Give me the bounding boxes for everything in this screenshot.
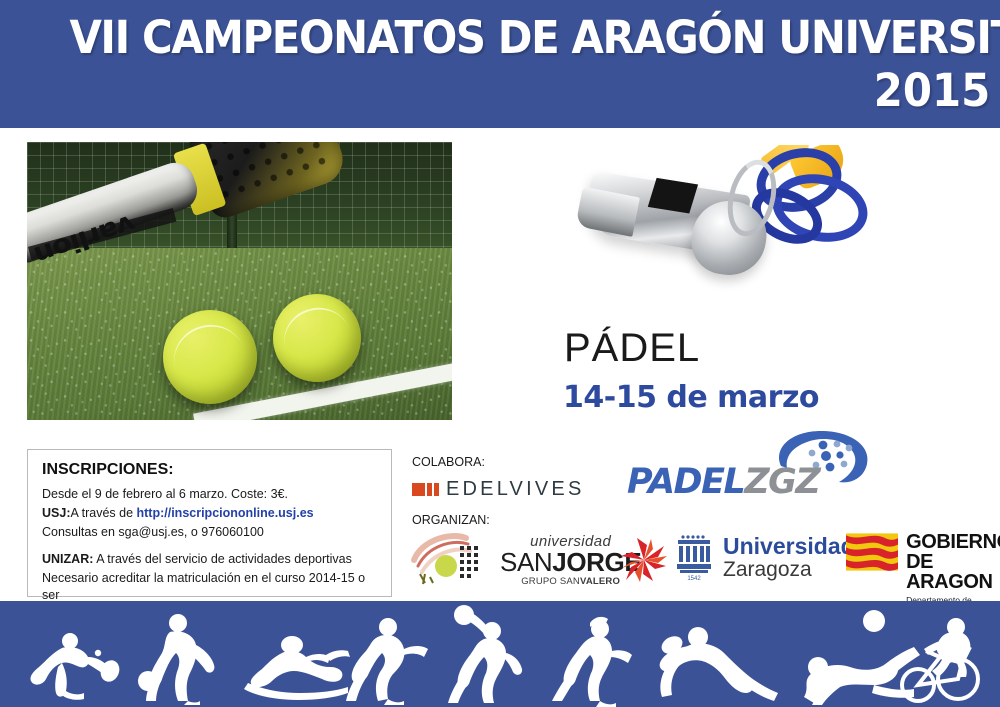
sanjorge-san: SAN xyxy=(500,547,552,577)
inscriptions-period: Desde el 9 de febrero al 6 marzo. Coste:… xyxy=(42,486,377,503)
inscriptions-note-1: Necesario acreditar la matriculación en … xyxy=(42,570,377,604)
whistle-dark-band xyxy=(648,178,698,214)
tennis-ball xyxy=(163,310,257,404)
whistle-photo xyxy=(565,145,965,310)
female-runner-silhouette xyxy=(552,617,632,707)
universidad-zaragoza-logo: 1542 Universidad Zaragoza xyxy=(674,532,855,582)
inscriptions-usj-line: USJ:A través de http://inscripciononline… xyxy=(42,505,377,522)
edelvives-logo: EDELVIVES xyxy=(412,478,584,501)
unizar-text-block: Universidad Zaragoza xyxy=(723,534,855,581)
inscriptions-title: INSCRIPCIONES: xyxy=(42,461,377,479)
unizar-text: A través del servicio de actividades dep… xyxy=(96,552,352,566)
gobierno-line1: GOBIERNO xyxy=(906,532,1000,552)
usj-registration-link[interactable]: http://inscripciononline.usj.es xyxy=(137,506,314,520)
padelzgz-wordmark: PADELZGZ xyxy=(627,462,819,502)
colabora-label: COLABORA: xyxy=(412,455,485,469)
header-year: 2015 xyxy=(874,66,990,116)
unizar-zaragoza: Zaragoza xyxy=(723,558,855,581)
handball-player-silhouette xyxy=(448,605,522,703)
sport-dates: 14-15 de marzo xyxy=(563,380,819,415)
whistle-mouthpiece xyxy=(575,187,640,237)
sports-silhouette-band xyxy=(0,601,1000,707)
padelzgz-logo: PADELZGZ xyxy=(627,428,875,500)
gobierno-line2: DE ARAGON xyxy=(906,552,1000,592)
padel-player-silhouette xyxy=(31,633,123,700)
edelvives-mark-icon xyxy=(412,483,439,496)
padel-photo: PADEL varlion xyxy=(27,142,452,420)
aragon-flag-icon xyxy=(846,532,898,572)
inscriptions-unizar-line: UNIZAR: A través del servicio de activid… xyxy=(42,551,377,568)
unizar-building-icon: 1542 xyxy=(674,532,714,582)
organizan-label: ORGANIZAN: xyxy=(412,513,490,527)
tennis-ball xyxy=(273,294,361,382)
unizar-label: UNIZAR: xyxy=(42,552,93,566)
usj-text: A través de xyxy=(70,506,136,520)
unizar-universidad: Universidad xyxy=(723,534,855,558)
silhouettes-group xyxy=(0,601,1000,707)
spacer xyxy=(42,543,377,551)
racket-label: PADEL xyxy=(256,142,317,144)
inscriptions-contact: Consultas en sga@usj.es, o 976060100 xyxy=(42,524,377,541)
usj-racket-mark-icon xyxy=(408,530,492,588)
rugby-player-silhouette xyxy=(659,627,778,701)
usj-label: USJ: xyxy=(42,506,70,520)
swimmer-silhouette xyxy=(244,636,348,700)
basketball-player-silhouette xyxy=(138,614,214,705)
organizers-row: universidad SANJORGE GRUPO SANVALERO xyxy=(408,528,996,590)
poster-root: VII CAMPEONATOS DE ARAGÓN UNIVERSITARIOS… xyxy=(0,0,1000,707)
sanvalero-star-icon xyxy=(620,536,668,584)
svg-text:1542: 1542 xyxy=(687,576,701,582)
sport-name: PÁDEL xyxy=(564,326,700,371)
grupo-san: GRUPO SAN xyxy=(521,576,580,587)
header-banner: VII CAMPEONATOS DE ARAGÓN UNIVERSITARIOS… xyxy=(0,0,1000,128)
page-title: VII CAMPEONATOS DE ARAGÓN UNIVERSITARIOS xyxy=(69,14,992,62)
grupo-valero: VALERO xyxy=(580,576,620,587)
metal-whistle xyxy=(583,171,751,257)
edelvives-wordmark: EDELVIVES xyxy=(446,478,584,501)
inscriptions-box: INSCRIPCIONES: Desde el 9 de febrero al … xyxy=(27,449,392,597)
padelzgz-part2: ZGZ xyxy=(744,462,819,502)
padelzgz-part1: PADEL xyxy=(627,462,744,502)
cyclist-silhouette xyxy=(902,618,978,701)
